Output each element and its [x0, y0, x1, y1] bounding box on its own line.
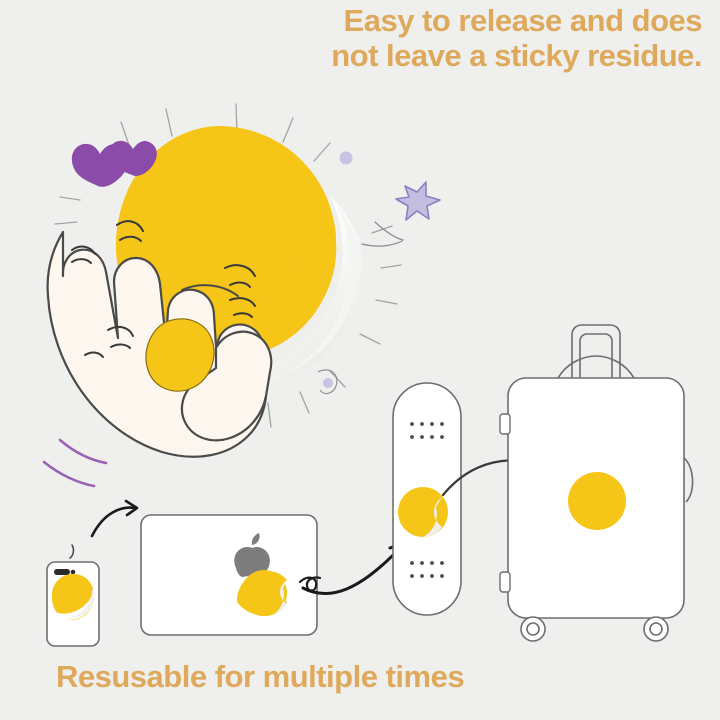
phone-object	[47, 545, 99, 646]
star-motion-lines	[362, 222, 403, 246]
hand-motion-lines	[44, 440, 106, 486]
suitcase-side-handle	[684, 458, 693, 502]
arrow-phone-to-laptop	[92, 501, 137, 536]
suitcase-object	[500, 325, 693, 641]
dot-decoration-2	[323, 378, 333, 388]
arrow-laptop-to-skateboard	[303, 544, 404, 594]
laptop-object	[141, 515, 320, 635]
phone-peel-flick	[70, 545, 73, 558]
star-icon	[396, 182, 440, 220]
skateboard-sticker	[398, 487, 448, 537]
illustration-layer	[0, 0, 720, 720]
skateboard-object	[393, 383, 461, 615]
suitcase-wheels	[521, 617, 668, 641]
poster-canvas: Easy to release and does not leave a sti…	[0, 0, 720, 720]
suitcase-sticker	[568, 472, 626, 530]
suitcase-handle	[558, 325, 634, 378]
dot-decoration-1	[340, 152, 353, 165]
